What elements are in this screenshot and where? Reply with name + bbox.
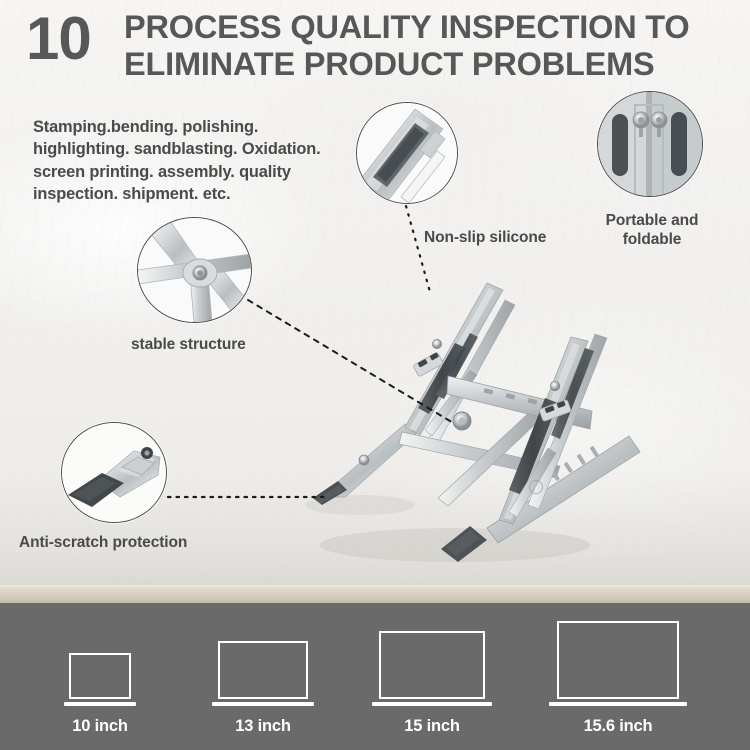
laptop-base (549, 702, 687, 706)
callout-label-scratch: Anti-scratch protection (19, 533, 249, 552)
folded-arms-detail-icon (598, 92, 702, 196)
connector-silicone (406, 206, 430, 292)
callout-label-portable-line1: Portable and (606, 212, 699, 229)
size-label: 15.6 inch (528, 717, 708, 736)
laptop-screen (69, 653, 131, 699)
product-infographic: 10 PROCESS QUALITY INSPECTION TO ELIMINA… (0, 0, 750, 750)
size-item-15inch: 15 inch (352, 631, 512, 736)
laptop-outline-icon (528, 621, 708, 706)
rubber-foot-detail-icon (62, 423, 166, 522)
laptop-screen (557, 621, 679, 699)
desk-edge-highlight (0, 585, 750, 588)
desk-edge-strip (0, 585, 750, 605)
callout-scratch-circle (61, 422, 167, 523)
callout-silicone-circle (356, 102, 458, 204)
laptop-outline-icon (188, 641, 338, 706)
laptop-outline-icon (30, 653, 170, 706)
laptop-screen (218, 641, 308, 699)
laptop-screen (379, 631, 485, 699)
laptop-base (212, 702, 314, 706)
silicone-pad-detail-icon (357, 103, 457, 203)
callout-label-portable-line2: foldable (623, 231, 682, 248)
applicable-size-panel: Applicable size 10 inch 13 inch 15 inch (0, 603, 750, 750)
cross-joint-detail-icon (138, 218, 251, 322)
size-item-13inch: 13 inch (188, 641, 338, 736)
callout-portable-circle (597, 91, 703, 197)
callout-stable-circle (137, 217, 252, 323)
size-label: 15 inch (352, 717, 512, 736)
size-item-10inch: 10 inch (30, 653, 170, 736)
laptop-base (64, 702, 136, 706)
callout-label-stable: stable structure (131, 335, 301, 354)
size-label: 13 inch (188, 717, 338, 736)
laptop-base (372, 702, 492, 706)
callout-label-portable: Portable and foldable (592, 211, 712, 249)
callout-label-silicone: Non-slip silicone (424, 228, 584, 247)
size-label: 10 inch (30, 717, 170, 736)
size-item-15-6inch: 15.6 inch (528, 621, 708, 736)
laptop-outline-icon (352, 631, 512, 706)
connector-stable (248, 300, 455, 424)
